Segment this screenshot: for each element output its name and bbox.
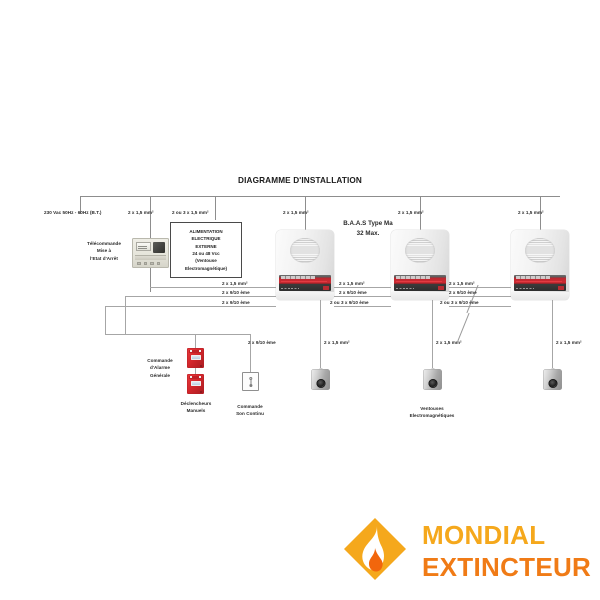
- magnet-disc-icon: [428, 379, 437, 388]
- brand-logo: MONDIAL EXTINCTEUR: [344, 512, 592, 588]
- baas-base: [391, 292, 449, 300]
- drop-line-psu: [215, 196, 216, 220]
- psu-line2: ELECTRIQUE: [191, 235, 220, 242]
- flame-diamond-icon: [344, 518, 406, 580]
- external-power-supply-box: ALIMENTATION ELECTRIQUE EXTERNE 24 ou 48…: [170, 222, 242, 278]
- label-cable-baas-2: 2 x 1,5 mm²: [398, 210, 424, 217]
- break-mark-icon: [457, 313, 469, 341]
- brand-name-bottom: EXTINCTEUR: [422, 554, 591, 580]
- installation-diagram-canvas: DIAGRAMME D'INSTALLATION 230 Vac 50Hz - …: [0, 0, 600, 600]
- label-telecommande: Télécommande Mise à l'Etat d'Arrêt: [87, 240, 121, 262]
- telecommande-terminals: [137, 262, 160, 266]
- manual-call-point-1: [187, 348, 204, 368]
- baas-unit-2: [391, 230, 449, 300]
- psu-line6: Electromagnétique): [185, 265, 227, 272]
- label-mains-supply: 230 Vac 50Hz - 60Hz (B.T.): [44, 210, 101, 217]
- label-cable-telecommande: 2 x 1,5 mm²: [128, 210, 154, 217]
- drop-line-ventouse-3: [552, 300, 553, 368]
- ventouse-magnet-2: [423, 366, 442, 390]
- psu-line3: EXTERNE: [195, 243, 216, 250]
- label-declencheurs-manuels: Déclencheurs Manuels: [181, 400, 212, 415]
- ventouse-magnet-3: [543, 366, 562, 390]
- riser-line-2: [125, 296, 126, 334]
- commande-son-line2: Son Continu: [236, 410, 264, 417]
- bottom-label-4: 2 x 1,5 mm²: [556, 340, 582, 347]
- brand-wordmark: MONDIAL EXTINCTEUR: [422, 522, 591, 580]
- label-commande-alarme-generale: Commande d'Alarme Générale: [147, 357, 172, 379]
- bottom-label-2: 2 x 1,5 mm²: [324, 340, 350, 347]
- magnet-disc-icon: [548, 379, 557, 388]
- commande-alarme-line1: Commande: [147, 357, 172, 364]
- commande-alarme-line3: Générale: [147, 372, 172, 379]
- telecommande-line1: Télécommande: [87, 240, 121, 247]
- psu-line4: 24 ou 48 Vcc: [192, 250, 219, 257]
- baas-unit-3: [511, 230, 569, 300]
- main-bus-line: [80, 196, 560, 197]
- drop-line-mcp: [195, 334, 196, 348]
- bus-label-right-3: 2 ou 3 x 9/10 ème: [440, 300, 479, 307]
- drop-line-ventouse-1: [320, 300, 321, 368]
- commande-son-continu-device: [242, 372, 259, 391]
- label-cable-psu: 2 ou 3 x 1,5 mm²: [172, 210, 209, 217]
- magnet-disc-icon: [316, 379, 325, 388]
- telecommande-panel: [153, 242, 165, 253]
- bus-label-right-1: 2 x 1,5 mm²: [449, 281, 475, 288]
- bus-label-right-2: 2 x 9/10 ème: [449, 290, 477, 297]
- bus-line-2-left: [125, 296, 276, 297]
- psu-line1: ALIMENTATION: [189, 228, 222, 235]
- drop-line-ventouse-2: [432, 300, 433, 368]
- bus-label-mid-1: 2 x 1,5 mm²: [339, 281, 365, 288]
- telecommande-module: [132, 238, 169, 268]
- label-ventouses-electromagnetiques: Ventouses Electromagnétiques: [410, 405, 455, 420]
- telecommande-line2: Mise à: [87, 247, 121, 254]
- psu-line5: (Ventouse: [195, 257, 217, 264]
- baas-label-band: [279, 275, 331, 291]
- manual-call-point-2: [187, 374, 204, 394]
- baas-base: [511, 292, 569, 300]
- telecommande-rail: [135, 255, 166, 260]
- bottom-label-3: 2 x 1,5 mm²: [436, 340, 462, 347]
- speaker-grille-icon: [405, 238, 435, 263]
- bus-label-left-3: 2 x 9/10 ème: [222, 300, 250, 307]
- bus-line-1-left: [150, 287, 276, 288]
- label-cable-baas-3: 2 x 1,5 mm²: [518, 210, 544, 217]
- baas-header-line1: B.A.A.S Type Ma: [343, 219, 392, 229]
- speaker-grille-icon: [290, 238, 320, 263]
- declencheurs-line2: Manuels: [181, 407, 212, 414]
- brand-name-top: MONDIAL: [422, 522, 591, 548]
- commande-son-line1: Commande: [236, 403, 264, 410]
- commande-alarme-line2: d'Alarme: [147, 364, 172, 371]
- ventouses-line2: Electromagnétiques: [410, 412, 455, 419]
- declencheurs-line1: Déclencheurs: [181, 400, 212, 407]
- baas-label-band: [514, 275, 566, 291]
- telecommande-line3: l'Etat d'Arrêt: [87, 255, 121, 262]
- baas-header-line2: 32 Max.: [343, 229, 392, 239]
- label-cable-baas-1: 2 x 1,5 mm²: [283, 210, 309, 217]
- ventouse-magnet-1: [311, 366, 330, 390]
- baas-header: B.A.A.S Type Ma 32 Max.: [343, 219, 392, 238]
- ventouses-line1: Ventouses: [410, 405, 455, 412]
- bottom-label-1: 2 x 9/10 ème: [248, 340, 276, 347]
- label-commande-son-continu: Commande Son Continu: [236, 403, 264, 418]
- bus-label-mid-2: 2 x 9/10 ème: [339, 290, 367, 297]
- bus-label-left-2: 2 x 9/10 ème: [222, 290, 250, 297]
- baas-unit-1: [276, 230, 334, 300]
- branch-line-csc: [125, 334, 250, 335]
- baas-label-band: [394, 275, 446, 291]
- riser-line-3: [105, 306, 106, 334]
- bus-line-3-left: [105, 306, 276, 307]
- telecommande-display: [136, 242, 151, 251]
- bus-label-mid-3: 2 ou 3 x 9/10 ème: [330, 300, 369, 307]
- baas-base: [276, 292, 334, 300]
- speaker-grille-icon: [525, 238, 555, 263]
- bus-label-left-1: 2 x 1,5 mm²: [222, 281, 248, 288]
- page-title: DIAGRAMME D'INSTALLATION: [238, 176, 362, 185]
